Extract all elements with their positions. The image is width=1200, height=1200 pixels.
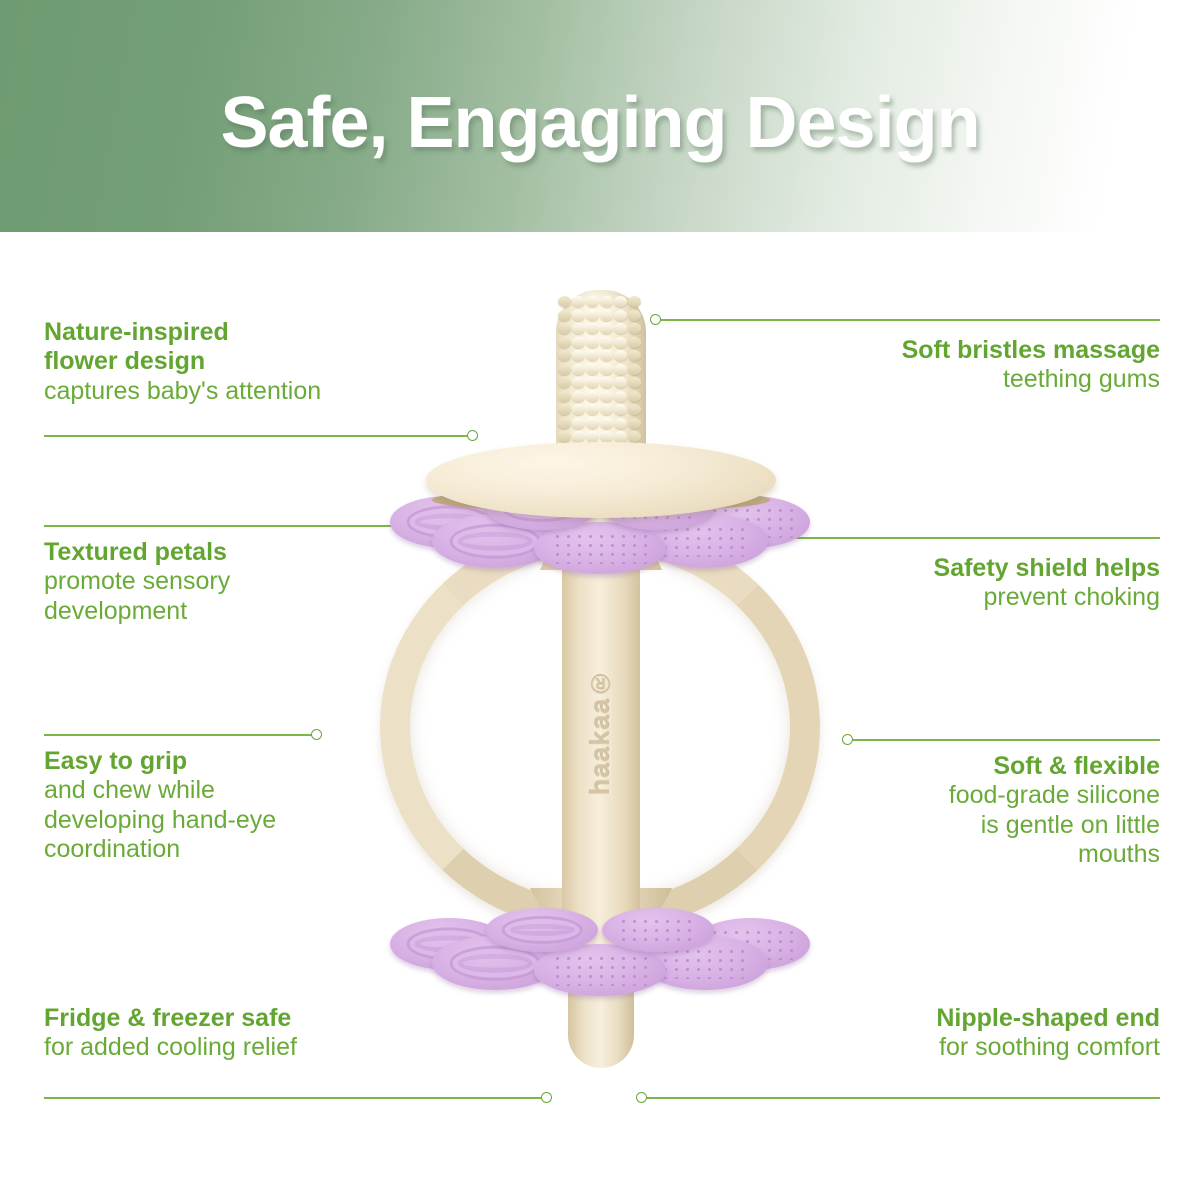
bristle-nub: [614, 323, 627, 334]
infographic-stage: haakaa® Nature-inspired flower design ca…: [0, 232, 1200, 1200]
connector-line: [842, 734, 1160, 746]
bristle-nub: [586, 337, 599, 348]
bristle-nub: [586, 431, 599, 442]
connector-bar: [848, 739, 1160, 741]
bristle-nub: [586, 296, 599, 307]
flower-petal: [534, 522, 666, 574]
feature-right-1: Soft bristles massage teething gums: [640, 336, 1160, 395]
bristle-nub: [600, 296, 613, 307]
feature-subtitle: food-grade silicone is gentle on little …: [760, 781, 1160, 869]
bristle-column: [600, 296, 613, 464]
feature-subtitle: and chew while developing hand-eye coord…: [44, 776, 444, 864]
bristle-nub: [628, 310, 641, 321]
bristle-column: [572, 296, 585, 464]
bristle-nub: [558, 323, 571, 334]
feature-title: Nipple-shaped end: [640, 1004, 1160, 1033]
petal-dot-texture: [660, 947, 751, 979]
bristle-nub: [586, 350, 599, 361]
bristle-nub: [572, 323, 585, 334]
bristle-nub: [614, 310, 627, 321]
feature-subtitle: prevent choking: [720, 583, 1160, 612]
feature-title: Soft bristles massage: [640, 336, 1160, 365]
product-safety-shield: [426, 442, 776, 518]
feature-subtitle: for soothing comfort: [640, 1033, 1160, 1062]
bristle-nub: [628, 323, 641, 334]
bristle-nub: [614, 337, 627, 348]
bristle-column: [614, 296, 627, 464]
bristle-nub: [614, 296, 627, 307]
feature-subtitle: teething gums: [640, 365, 1160, 394]
feature-subtitle: captures baby's attention: [44, 377, 464, 406]
connector-bar: [44, 1097, 546, 1099]
bristle-column: [558, 296, 571, 464]
bristle-column: [586, 296, 599, 464]
bristle-nub: [558, 418, 571, 429]
bristle-nub: [572, 377, 585, 388]
feature-subtitle: promote sensory development: [44, 567, 444, 626]
connector-bar: [44, 734, 316, 736]
bristle-nub: [600, 350, 613, 361]
bristle-nub: [614, 350, 627, 361]
connector-line: [44, 729, 322, 741]
bristle-nub: [586, 323, 599, 334]
bristle-nub: [600, 364, 613, 375]
petal-swirl-texture: [502, 916, 583, 944]
feature-title: Textured petals: [44, 538, 444, 567]
bristle-nub: [628, 418, 641, 429]
bristle-nub: [614, 418, 627, 429]
flower-petal: [486, 908, 598, 952]
bristle-nub: [600, 431, 613, 442]
bristle-nub: [572, 296, 585, 307]
bristle-nub: [558, 404, 571, 415]
feature-title: Nature-inspired flower design: [44, 318, 464, 377]
bristle-nub: [558, 337, 571, 348]
feature-left-4: Fridge & freezer safe for added cooling …: [44, 1004, 504, 1063]
brand-logo: haakaa®: [586, 667, 617, 796]
feature-left-2: Textured petals promote sensory developm…: [44, 538, 444, 626]
connector-line: [636, 1092, 1160, 1104]
bristle-nub: [628, 296, 641, 307]
bristle-nub: [572, 431, 585, 442]
bristle-nub: [558, 310, 571, 321]
petal-dot-texture: [660, 525, 751, 557]
bristle-nub: [572, 337, 585, 348]
bristle-nub: [572, 310, 585, 321]
connector-line: [44, 520, 422, 532]
connector-bar: [758, 537, 1160, 539]
bristle-nub: [600, 391, 613, 402]
bristle-nub: [614, 391, 627, 402]
product-lower-flower-petals: [390, 902, 810, 1002]
feature-right-4: Nipple-shaped end for soothing comfort: [640, 1004, 1160, 1063]
flower-petal: [602, 908, 714, 952]
connector-endpoint-dot: [467, 430, 478, 441]
bristle-nub: [600, 377, 613, 388]
connector-endpoint-dot: [650, 314, 661, 325]
connector-line: [44, 1092, 552, 1104]
connector-bar: [656, 319, 1160, 321]
bristle-nub: [614, 377, 627, 388]
bristle-nub: [558, 377, 571, 388]
feature-left-1: Nature-inspired flower design captures b…: [44, 318, 464, 406]
bristle-nub: [572, 418, 585, 429]
bristle-nub: [558, 296, 571, 307]
bristle-nub: [558, 364, 571, 375]
bristle-nub: [586, 310, 599, 321]
bristle-nub: [628, 431, 641, 442]
bristle-nub: [572, 404, 585, 415]
bristle-nub: [572, 364, 585, 375]
connector-endpoint-dot: [636, 1092, 647, 1103]
connector-endpoint-dot: [842, 734, 853, 745]
connector-bar: [44, 435, 472, 437]
feature-title: Fridge & freezer safe: [44, 1004, 504, 1033]
flower-petal: [534, 944, 666, 996]
bristle-nub: [600, 337, 613, 348]
connector-line: [650, 314, 1160, 326]
bristle-nub: [600, 404, 613, 415]
petal-dot-texture: [618, 917, 699, 943]
connector-bar: [642, 1097, 1160, 1099]
connector-line: [752, 532, 1160, 544]
bristle-nub: [558, 431, 571, 442]
bristle-nub: [586, 418, 599, 429]
feature-title: Soft & flexible: [760, 752, 1160, 781]
header-banner: Safe, Engaging Design: [0, 0, 1200, 232]
bristle-nub: [614, 404, 627, 415]
bristle-nub: [586, 391, 599, 402]
connector-endpoint-dot: [311, 729, 322, 740]
feature-subtitle: for added cooling relief: [44, 1033, 504, 1062]
petal-dot-texture: [552, 954, 647, 985]
page-title: Safe, Engaging Design: [220, 82, 979, 164]
bristle-nub: [600, 310, 613, 321]
bristle-nub: [600, 418, 613, 429]
bristle-nub: [586, 404, 599, 415]
connector-endpoint-dot: [541, 1092, 552, 1103]
product-central-handle: haakaa®: [562, 516, 640, 946]
feature-right-3: Soft & flexible food-grade silicone is g…: [760, 752, 1160, 869]
connector-line: [44, 430, 478, 442]
bristle-nub: [558, 391, 571, 402]
bristle-nub: [628, 404, 641, 415]
connector-bar: [44, 525, 416, 527]
bristle-nub: [614, 431, 627, 442]
bristle-nub: [572, 391, 585, 402]
bristle-nub: [600, 323, 613, 334]
bristle-nub: [572, 350, 585, 361]
petal-dot-texture: [552, 532, 647, 563]
bristle-nub: [586, 364, 599, 375]
bristle-nub: [614, 364, 627, 375]
bristle-nub: [558, 350, 571, 361]
bristle-nub: [586, 377, 599, 388]
